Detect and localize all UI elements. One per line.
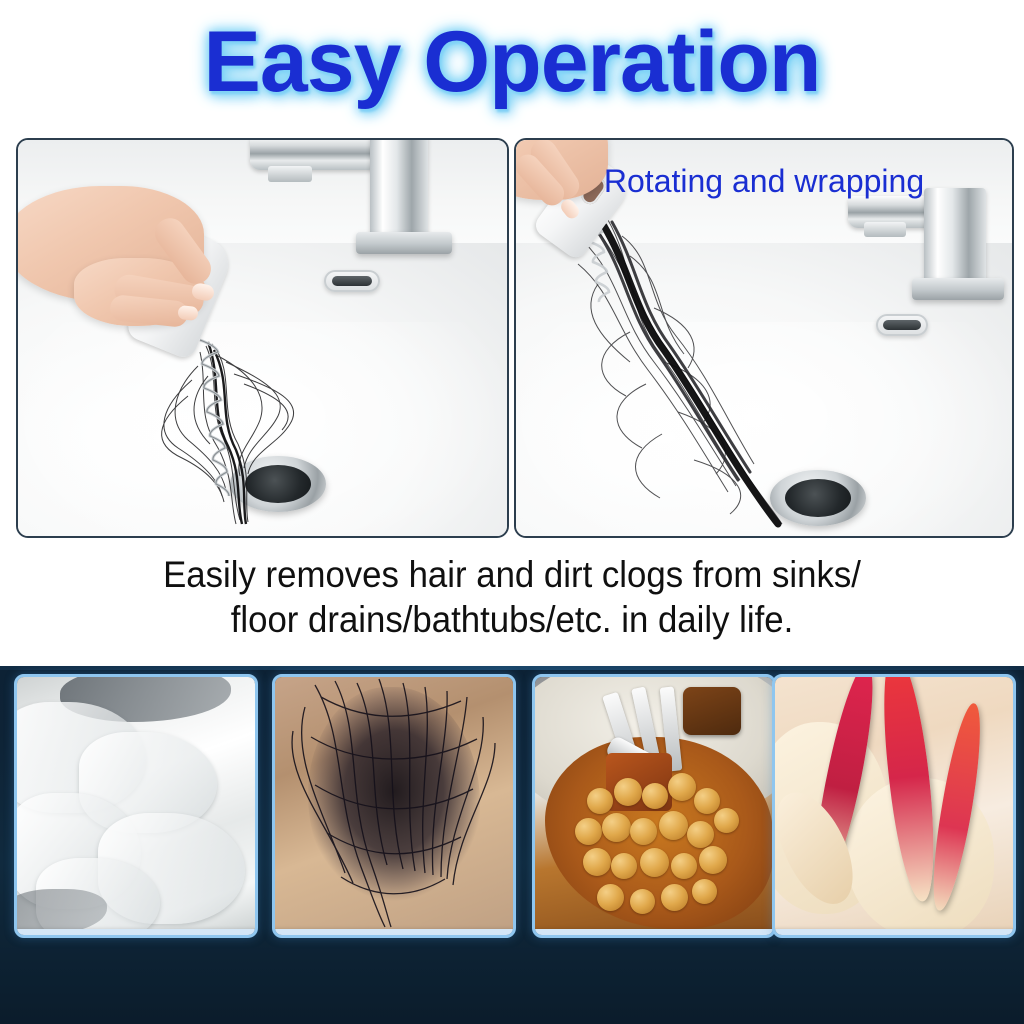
use-case-label-tissue-paper: Tissue paper <box>14 929 258 938</box>
use-case-card-tissue-paper: Tissue paper <box>14 674 258 938</box>
sink-scene-right: Rotating and wrapping <box>516 140 1012 536</box>
use-case-photo-tissue-paper <box>17 677 255 929</box>
use-cases-band: Tissue paper <box>0 666 1024 1024</box>
use-case-card-hairs: Hairs <box>272 674 516 938</box>
use-case-photo-food-scraps <box>535 677 773 929</box>
use-case-photo-fruit-leather <box>775 677 1013 929</box>
demo-photo-right: Rotating and wrapping <box>514 138 1014 538</box>
panel-caption-right: Rotating and wrapping <box>516 162 1012 200</box>
drain-snake-coil <box>178 338 262 516</box>
demo-photo-left <box>16 138 509 538</box>
sink-scene-left <box>18 140 507 536</box>
use-case-photo-hairs <box>275 677 513 929</box>
use-case-card-food-scraps: Food scraps <box>532 674 776 938</box>
use-case-label-hairs: Hairs <box>272 929 516 938</box>
overflow-hole <box>324 270 380 292</box>
use-case-card-fruit-leather: Fruit leather <box>772 674 1016 938</box>
demo-photo-row: Rotating and wrapping <box>0 138 1024 536</box>
description-text: Easily removes hair and dirt clogs from … <box>31 552 994 642</box>
overflow-hole <box>876 314 928 336</box>
page-title: Easy Operation <box>0 14 1024 110</box>
use-case-label-food-scraps: Food scraps <box>532 929 776 938</box>
infographic-page: Easy Operation <box>0 0 1024 1024</box>
description-line-2: floor drains/bathtubs/etc. in daily life… <box>31 597 994 642</box>
use-case-label-fruit-leather: Fruit leather <box>772 929 1016 938</box>
sink-drain <box>770 470 866 526</box>
description-line-1: Easily removes hair and dirt clogs from … <box>163 554 861 595</box>
